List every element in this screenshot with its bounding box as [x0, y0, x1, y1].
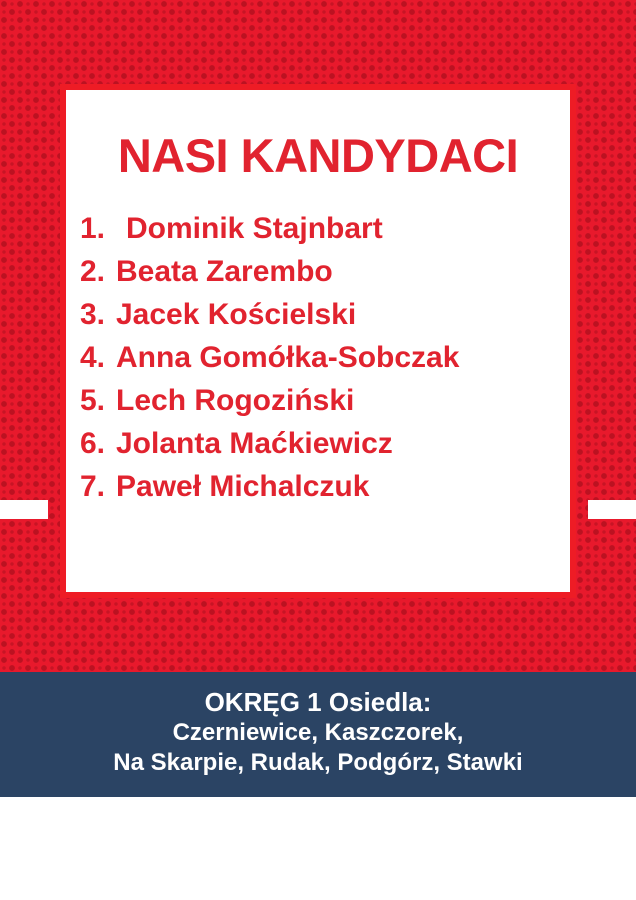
candidates-list: 1. Dominik Stajnbart 2. Beata Zarembo 3.… — [66, 214, 570, 515]
candidate-number: 5. — [80, 386, 116, 416]
list-item: 6. Jolanta Maćkiewicz — [66, 429, 570, 472]
candidate-name: Anna Gomółka-Sobczak — [116, 343, 459, 373]
candidate-name: Jolanta Maćkiewicz — [116, 429, 393, 459]
candidate-name: Dominik Stajnbart — [126, 214, 383, 244]
page-title: NASI KANDYDACI — [66, 132, 570, 179]
list-item: 2. Beata Zarembo — [66, 257, 570, 300]
district-neighbourhoods-line-1: Czerniewice, Kaszczorek, — [0, 718, 636, 749]
candidate-number: 4. — [80, 343, 116, 373]
district-neighbourhoods-line-2: Na Skarpie, Rudak, Podgórz, Stawki — [0, 748, 636, 779]
district-band: OKRĘG 1 Osiedla: Czerniewice, Kaszczorek… — [0, 672, 636, 797]
list-item: 7. Paweł Michalczuk — [66, 472, 570, 515]
candidate-number: 2. — [80, 257, 116, 287]
list-item: 3. Jacek Kościelski — [66, 300, 570, 343]
list-item: 1. Dominik Stajnbart — [66, 214, 570, 257]
candidate-name: Paweł Michalczuk — [116, 472, 369, 502]
candidate-name: Jacek Kościelski — [116, 300, 356, 330]
candidate-number: 7. — [80, 472, 116, 502]
left-edge-white-bar — [0, 500, 48, 519]
candidate-number: 1. — [80, 214, 126, 244]
candidate-number: 3. — [80, 300, 116, 330]
candidate-name: Lech Rogoziński — [116, 386, 354, 416]
list-item: 5. Lech Rogoziński — [66, 386, 570, 429]
candidate-name: Beata Zarembo — [116, 257, 333, 287]
footer: KKW SLD LEWICA RAZEM SILNY SAMORZĄD DEMO… — [0, 797, 636, 900]
candidate-number: 6. — [80, 429, 116, 459]
district-title: OKRĘG 1 Osiedla: — [0, 687, 636, 718]
candidates-card: NASI KANDYDACI 1. Dominik Stajnbart 2. B… — [66, 90, 570, 592]
right-edge-white-bar — [588, 500, 636, 519]
election-poster: NASI KANDYDACI 1. Dominik Stajnbart 2. B… — [0, 0, 636, 900]
list-item: 4. Anna Gomółka-Sobczak — [66, 343, 570, 386]
